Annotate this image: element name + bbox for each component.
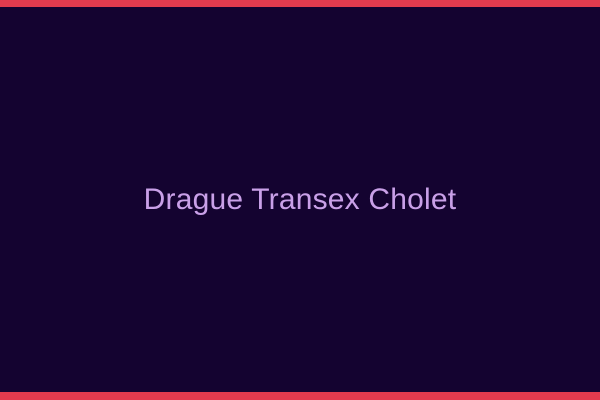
banner-headline: Drague Transex Cholet — [144, 182, 457, 218]
bottom-accent-bar — [0, 392, 600, 400]
placeholder-banner: Drague Transex Cholet — [0, 0, 600, 400]
headline-container: Drague Transex Cholet — [0, 0, 600, 400]
